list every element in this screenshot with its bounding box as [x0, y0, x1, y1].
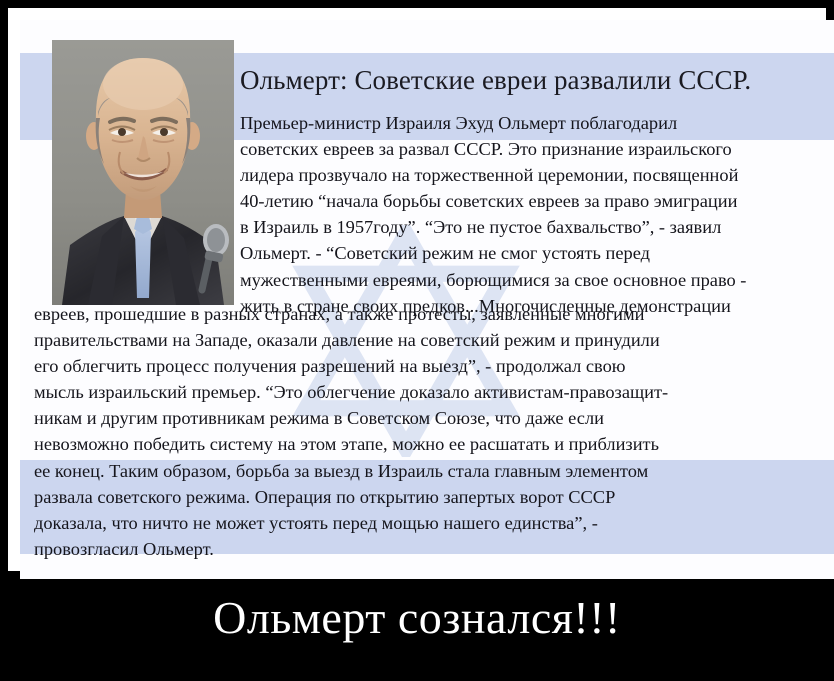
- demotivator-poster: Ольмерт: Советские евреи развалили СССР.…: [0, 0, 834, 681]
- article-headline: Ольмерт: Советские евреи развалили СССР.: [240, 64, 826, 96]
- body-line: лидера прозвучало на торжественной церем…: [240, 162, 828, 188]
- poster-caption: Ольмерт сознался!!!: [0, 590, 834, 646]
- body-line: 40-летию “начала борьбы советских евреев…: [240, 188, 828, 214]
- body-line: Ольмерт. - “Советский режим не смог усто…: [240, 240, 828, 266]
- body-line: ее конец. Таким образом, борьба за выезд…: [34, 458, 826, 484]
- article-body-lower: евреев, прошедшие в разных странах, а та…: [34, 301, 826, 562]
- body-line: в Израиль в 1957году”. “Это не пустое ба…: [240, 214, 828, 240]
- body-line: его облегчить процесс получения разрешен…: [34, 353, 826, 379]
- body-line: Премьер-министр Израиля Эхуд Ольмерт поб…: [240, 110, 828, 136]
- body-line: невозможно победить систему на этом этап…: [34, 431, 826, 457]
- body-line: никам и другим противникам режима в Сове…: [34, 405, 826, 431]
- body-line: правительствами на Западе, оказали давле…: [34, 327, 826, 353]
- olmert-portrait-photo: [52, 40, 234, 305]
- article-frame: Ольмерт: Советские евреи развалили СССР.…: [8, 8, 826, 571]
- body-line: евреев, прошедшие в разных странах, а та…: [34, 301, 826, 327]
- body-line: развала советского режима. Операция по о…: [34, 484, 826, 510]
- body-line: доказала, что ничто не может устоять пер…: [34, 510, 826, 536]
- body-line: провозгласил Ольмерт.: [34, 536, 826, 562]
- body-line: мужественными евреями, борющимися за сво…: [240, 267, 828, 293]
- article-body-upper: Премьер-министр Израиля Эхуд Ольмерт поб…: [240, 110, 828, 319]
- body-line: мысль израильский премьер. “Это облегчен…: [34, 379, 826, 405]
- body-line: советских евреев за развал СССР. Это при…: [240, 136, 828, 162]
- article-panel: Ольмерт: Советские евреи развалили СССР.…: [20, 20, 834, 579]
